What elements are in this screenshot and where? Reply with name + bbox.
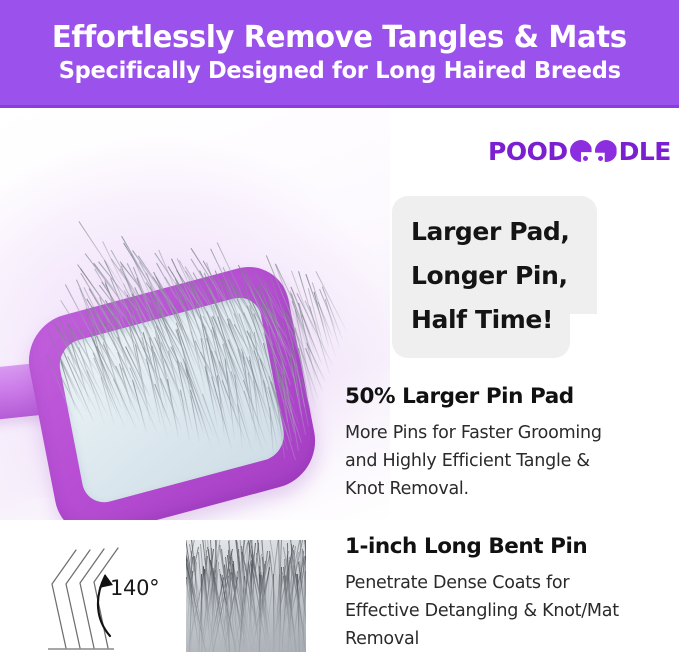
- banner-subheadline: Specifically Designed for Long Haired Br…: [58, 57, 620, 83]
- pin-macro-photo: [186, 540, 306, 652]
- brand-paw-mark-left-icon: [570, 140, 592, 162]
- bubble-line-1: Larger Pad,: [411, 210, 591, 254]
- feature-block-bent-pin: 1-inch Long Bent Pin Penetrate Dense Coa…: [345, 535, 679, 653]
- bubble-text-group: Larger Pad, Longer Pin, Half Time!: [411, 210, 591, 342]
- feature-1-title: 50% Larger Pin Pad: [345, 385, 679, 410]
- banner-headline: Effortlessly Remove Tangles & Mats: [52, 22, 627, 54]
- feature-2-body: Penetrate Dense Coats for Effective Deta…: [345, 569, 679, 653]
- brand-logo: POOD DLE: [488, 137, 671, 165]
- product-photo-brush: [0, 108, 390, 520]
- bubble-line-3: Half Time!: [411, 298, 591, 342]
- feature-1-body-line-1: More Pins for Faster Grooming: [345, 419, 679, 447]
- brand-paw-mark-right-icon: [595, 140, 617, 162]
- brand-logo-text-left: POOD: [488, 139, 568, 164]
- bubble-line-2: Longer Pin,: [411, 254, 591, 298]
- feature-2-title: 1-inch Long Bent Pin: [345, 535, 679, 560]
- promo-banner: Effortlessly Remove Tangles & Mats Speci…: [0, 0, 679, 108]
- callout-bubble: Larger Pad, Longer Pin, Half Time!: [392, 196, 597, 358]
- brush-pad-bed: [56, 292, 288, 507]
- feature-block-pin-pad: 50% Larger Pin Pad More Pins for Faster …: [345, 385, 679, 503]
- brand-logo-text-right: DLE: [619, 139, 671, 164]
- feature-2-body-line-3: Removal: [345, 625, 679, 653]
- feature-2-body-line-1: Penetrate Dense Coats for: [345, 569, 679, 597]
- feature-2-body-line-2: Effective Detangling & Knot/Mat: [345, 597, 679, 625]
- feature-1-body-line-2: and Highly Efficient Tangle &: [345, 447, 679, 475]
- angle-value-label: 140°: [110, 578, 159, 599]
- feature-1-body-line-3: Knot Removal.: [345, 475, 679, 503]
- feature-1-body: More Pins for Faster Grooming and Highly…: [345, 419, 679, 503]
